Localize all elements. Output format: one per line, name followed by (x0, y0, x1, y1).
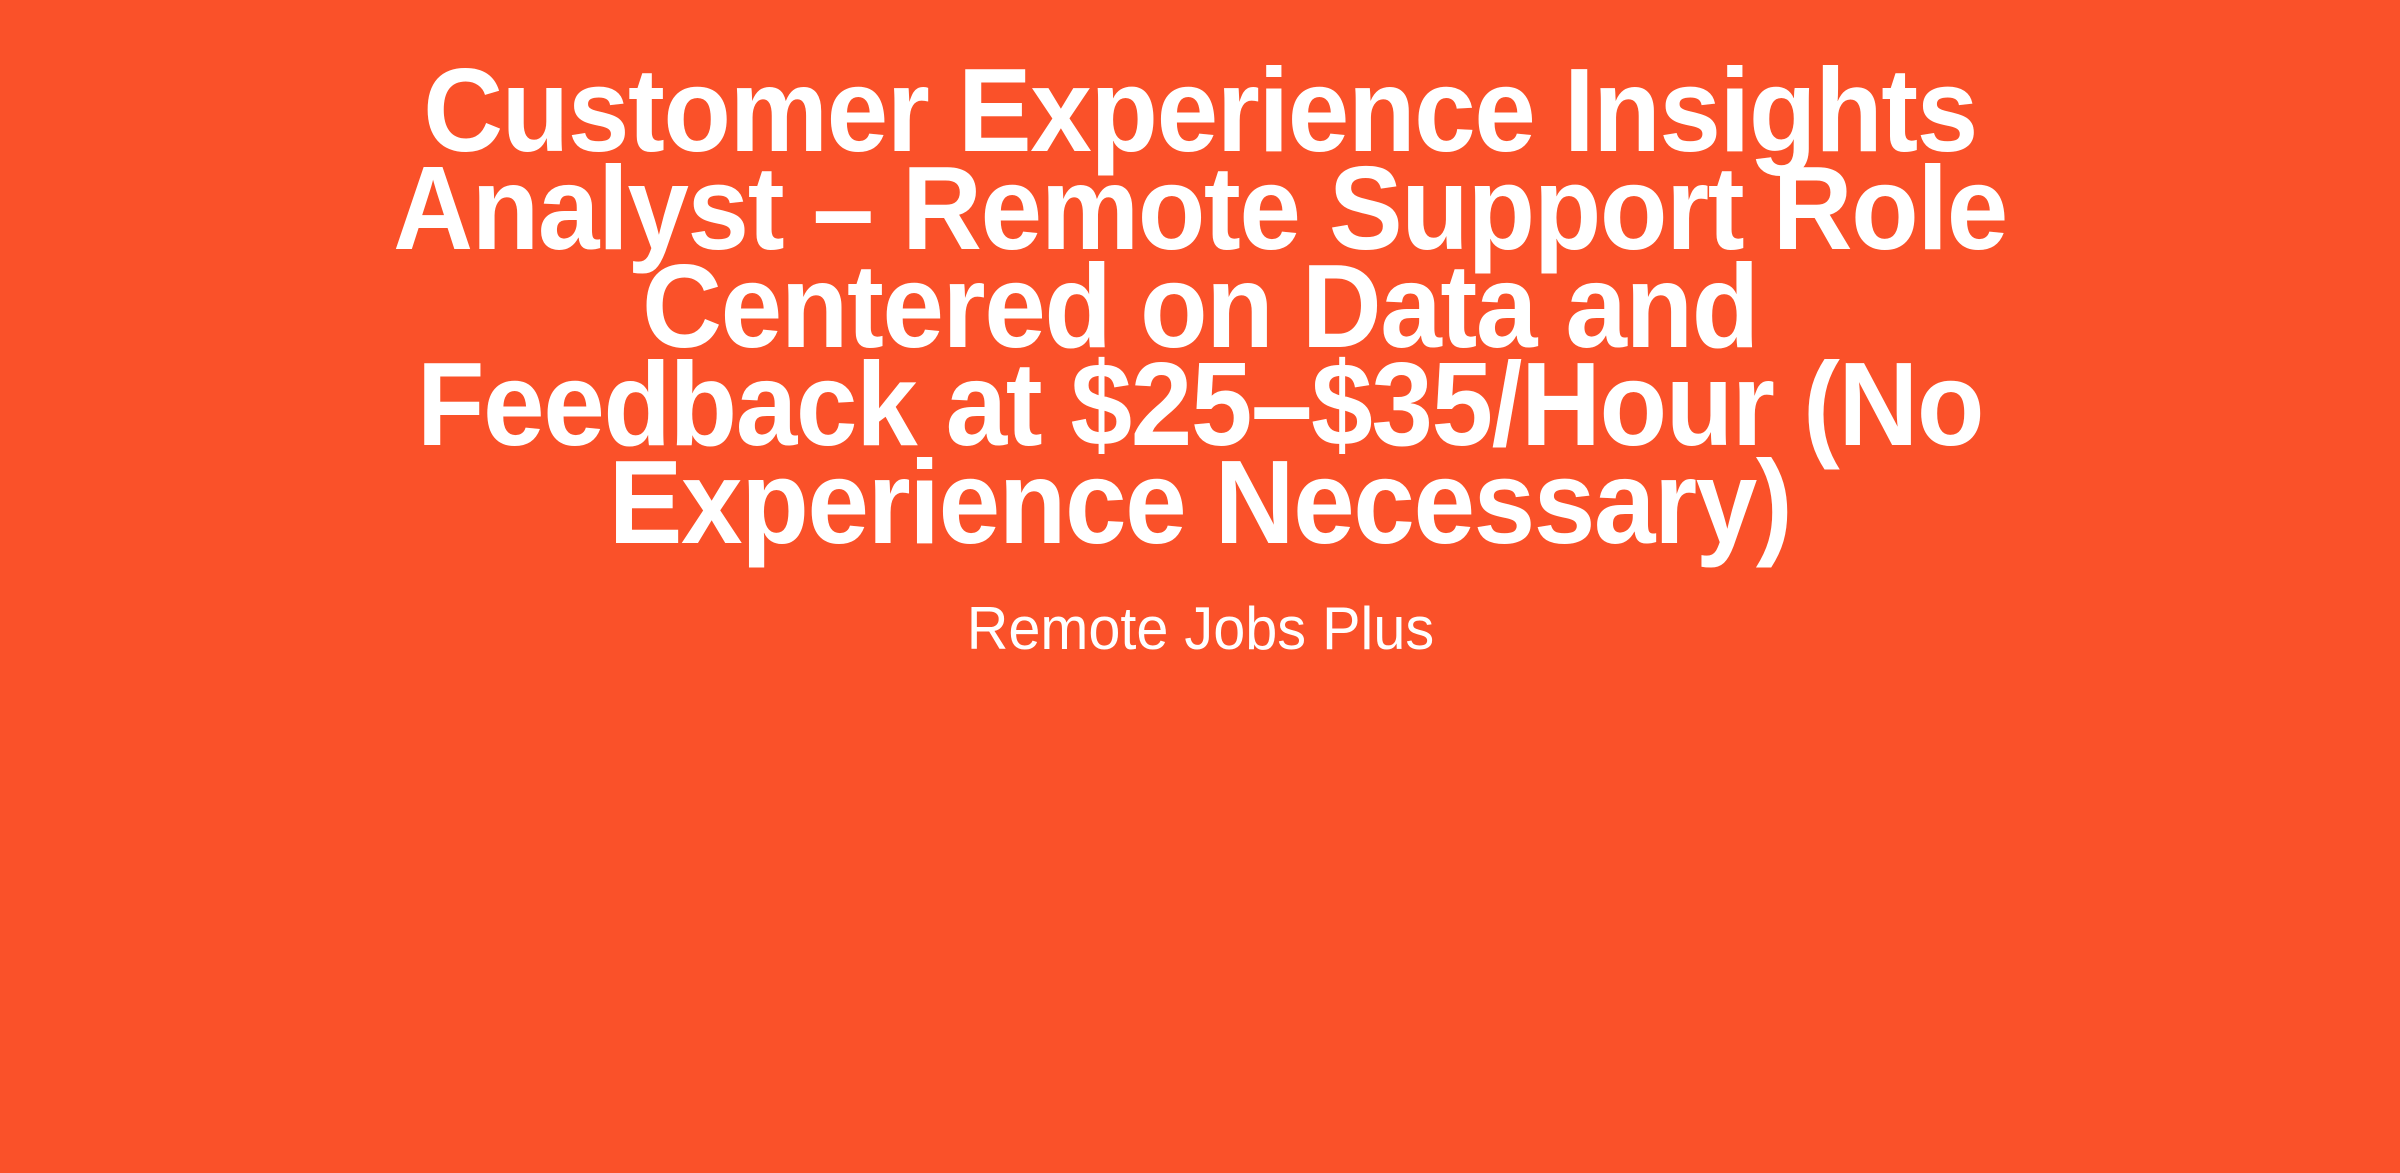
share-card: Customer Experience Insights Analyst – R… (0, 0, 2400, 1173)
site-name-subtitle: Remote Jobs Plus (966, 552, 1433, 664)
page-title: Customer Experience Insights Analyst – R… (382, 62, 2019, 552)
card-content: Customer Experience Insights Analyst – R… (320, 0, 2080, 664)
